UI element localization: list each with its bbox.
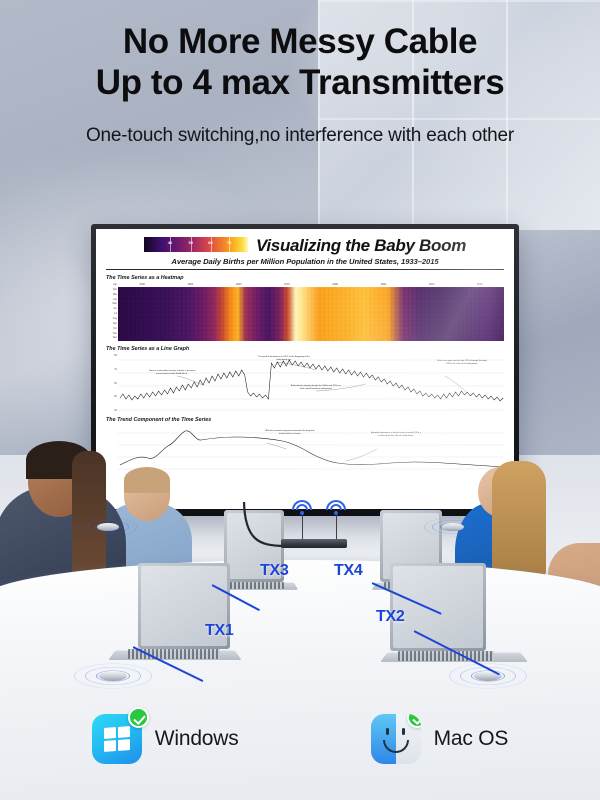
heatmap-y-axis: Jan Feb Mar Apr May Jun Jul Aug Sep Oct …: [106, 283, 118, 341]
panel-line-graph: The Time Series as a Line Graph 80 70 60…: [106, 346, 504, 412]
heatmap-ytick: Apr: [106, 299, 118, 301]
heatmap-ytick: Dec: [106, 337, 118, 339]
callout-tx2-label: TX2: [376, 608, 404, 626]
colorbar-legend: 40 50 60 70: [144, 237, 248, 252]
os-label-macos: Mac OS: [434, 727, 509, 751]
heatmap-plot: [118, 287, 504, 341]
headline-block: No More Messy Cable Up to 4 max Transmit…: [0, 22, 600, 103]
panel-heatmap: The Time Series as a Heatmap Jan Feb Mar…: [106, 275, 504, 341]
line-ytick: 70: [106, 368, 118, 371]
wifi-icon: [291, 500, 313, 517]
poster-header: 40 50 60 70 Visualizing the Baby Boom: [106, 237, 504, 254]
heatmap-ytick: Mar: [106, 294, 118, 296]
heatmap-xtick: 1940: [139, 283, 145, 286]
callout-tx3: TX3: [260, 562, 288, 580]
person-hair-long: [72, 451, 106, 579]
line-annotation-2: The peak of the boom is in 1957, at the …: [258, 356, 310, 361]
headline-line-2: Up to 4 max Transmitters: [0, 63, 600, 104]
heatmap-xtick: 1970: [284, 283, 290, 286]
finder-icon: [371, 714, 421, 764]
heatmap-xtick: 1980: [332, 283, 338, 286]
heatmap-ytick: Nov: [106, 333, 118, 335]
callout-tx2: TX2: [376, 608, 404, 626]
heatmap-ytick: Feb: [106, 289, 118, 291]
transmitter-puck-tx4: [442, 523, 464, 531]
callout-tx1: TX1: [205, 622, 233, 640]
poster-title: Visualizing the Baby Boom: [256, 237, 466, 254]
heatmap-xtick: 2000: [429, 283, 435, 286]
wifi-icon: [325, 500, 347, 517]
legend-tick-50: 50: [189, 240, 193, 245]
panel-trend-title: The Trend Component of the Time Series: [106, 417, 504, 423]
heatmap-ytick: May: [106, 303, 118, 305]
legend-tick-70: 70: [227, 240, 231, 245]
line-ytick: 60: [106, 382, 118, 385]
callout-tx3-label: TX3: [260, 562, 288, 580]
panel-line-title: The Time Series as a Line Graph: [106, 346, 504, 352]
person-hair-long: [492, 461, 546, 579]
check-icon: [128, 707, 149, 728]
heatmap-xtick: 1950: [187, 283, 193, 286]
legend-tick-60: 60: [208, 240, 212, 245]
os-item-windows: Windows: [92, 714, 239, 764]
panel-heatmap-title: The Time Series as a Heatmap: [106, 275, 504, 281]
line-annotation-1: There is a noticeable increase in births…: [146, 370, 198, 375]
line-graph-plot: There is a noticeable increase in births…: [118, 354, 504, 412]
transmitter-puck-tx1: [99, 671, 127, 681]
line-ytick: 50: [106, 395, 118, 398]
heatmap-ytick: Aug: [106, 318, 118, 320]
person-hair: [124, 467, 170, 493]
heatmap-ytick: Jul: [106, 313, 118, 315]
heatmap-xtick: 1960: [236, 283, 242, 286]
headline-subtitle: One-touch switching,no interference with…: [0, 125, 600, 147]
line-ytick: 80: [106, 354, 118, 357]
headline-line-1: No More Messy Cable: [0, 22, 600, 63]
poster-subtitle: Average Daily Births per Million Populat…: [106, 257, 504, 270]
windows-icon: [92, 714, 142, 764]
heatmap-ytick: Jan: [106, 284, 118, 286]
trend-annotation-1: With the seasonal component removed, the…: [264, 430, 316, 435]
callout-tx1-label: TX1: [205, 622, 233, 640]
laptop-tx1: [110, 563, 234, 673]
heatmap-x-axis: 1940 1950 1960 1970 1980 1990 2000 2010: [118, 283, 504, 286]
transmitter-puck-tx3: [97, 523, 119, 531]
heatmap-ytick: Oct: [106, 328, 118, 330]
trend-annotation-2: A gradual generation of trends since the…: [370, 432, 422, 437]
wifi-signal-group: [291, 500, 353, 542]
heatmap-ytick: Jun: [106, 308, 118, 310]
os-label-windows: Windows: [155, 727, 239, 751]
line-annotation-3: Births decline sharply through the 1960s…: [290, 385, 342, 390]
callout-tx4: TX4: [334, 562, 362, 580]
legend-tick-40: 40: [168, 240, 172, 245]
line-annotation-4: Births rise again from the late 1970s th…: [436, 360, 488, 365]
heatmap-xtick: 2010: [477, 283, 483, 286]
heatmap-ytick: Sep: [106, 323, 118, 325]
callout-tx4-label: TX4: [334, 562, 362, 580]
heatmap-xtick: 1990: [380, 283, 386, 286]
line-ytick: 40: [106, 409, 118, 412]
os-compatibility-row: Windows Mac OS: [0, 706, 600, 772]
line-y-axis: 80 70 60 50 40: [106, 354, 118, 412]
os-item-macos: Mac OS: [371, 714, 509, 764]
